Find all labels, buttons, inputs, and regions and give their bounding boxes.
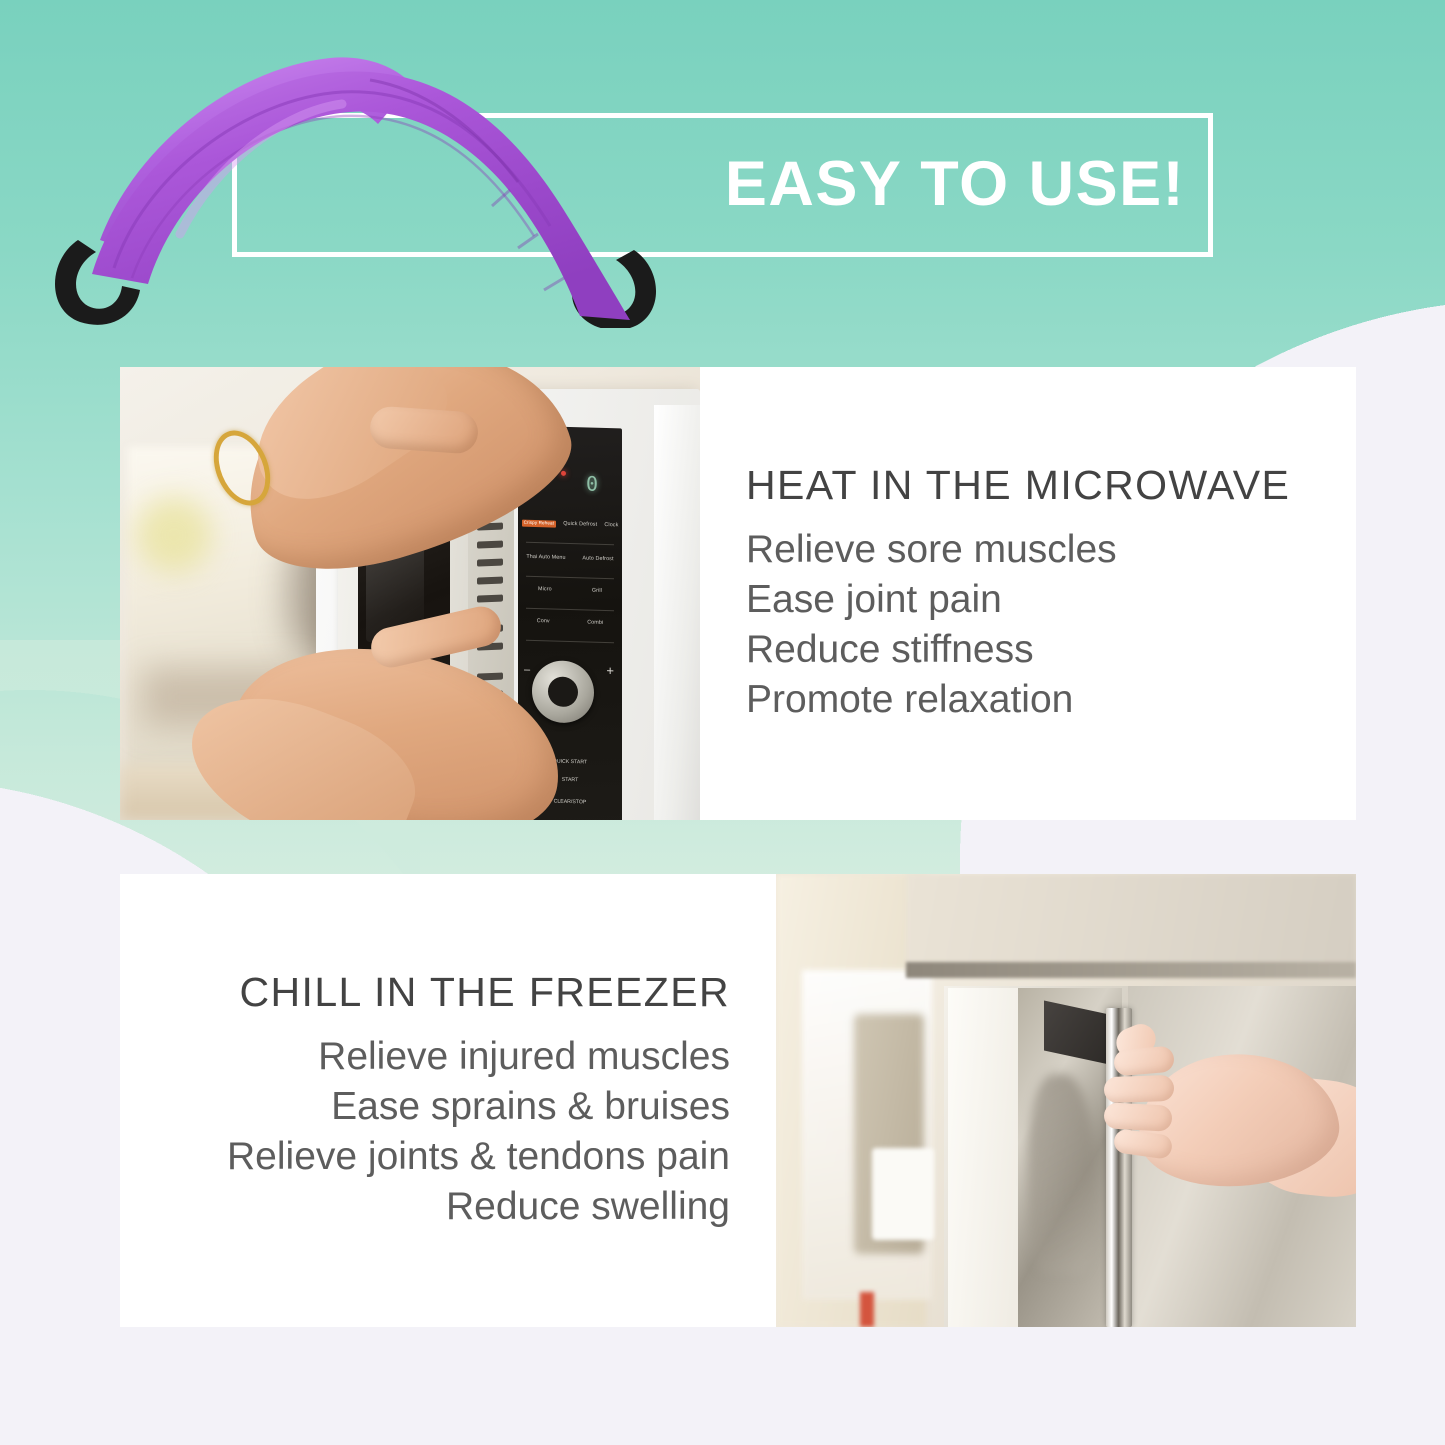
heat-text-panel: HEAT IN THE MICROWAVE Relieve sore muscl… — [700, 367, 1356, 820]
chill-benefit-list: Relieve injured muscles Ease sprains & b… — [166, 1032, 730, 1232]
button-combi[interactable]: Combi — [587, 619, 603, 625]
microwave-display: 0 — [578, 471, 606, 496]
hand-gripping-handle — [1120, 1028, 1356, 1228]
infographic-canvas: EASY TO USE! — [0, 0, 1445, 1445]
section-card-chill: CHILL IN THE FREEZER Relieve injured mus… — [120, 874, 1356, 1327]
section-card-heat: 0 Crispy Reheat Quick Defrost Clock Thai… — [120, 367, 1356, 820]
list-item: Reduce stiffness — [746, 625, 1310, 675]
button-thai-auto-menu[interactable]: Thai Auto Menu — [526, 554, 565, 561]
headline-easy-to-use: EASY TO USE! — [690, 128, 1220, 240]
decrease-icon[interactable]: – — [524, 664, 530, 676]
list-item: Ease sprains & bruises — [166, 1082, 730, 1132]
list-item: Relieve sore muscles — [746, 525, 1310, 575]
button-quick-defrost[interactable]: Quick Defrost — [563, 521, 597, 528]
list-item: Reduce swelling — [166, 1182, 730, 1232]
hand-opening-freezer-door-photo — [776, 874, 1356, 1327]
heat-section-title: HEAT IN THE MICROWAVE — [746, 462, 1310, 509]
hand-opening-microwave-photo: 0 Crispy Reheat Quick Defrost Clock Thai… — [120, 367, 700, 820]
upper-hand-fingers — [369, 405, 480, 454]
button-auto-defrost[interactable]: Auto Defrost — [582, 555, 613, 562]
upper-freezer-compartment — [906, 874, 1356, 974]
button-micro[interactable]: Micro — [538, 586, 552, 592]
list-item: Relieve injured muscles — [166, 1032, 730, 1082]
list-item: Promote relaxation — [746, 675, 1310, 725]
chill-section-title: CHILL IN THE FREEZER — [166, 969, 730, 1016]
product-image-neck-wrap — [40, 28, 670, 328]
microwave-rotary-dial[interactable] — [532, 660, 594, 724]
button-crispy-reheat[interactable]: Crispy Reheat — [522, 520, 556, 528]
increase-icon[interactable]: + — [606, 663, 614, 678]
list-item: Relieve joints & tendons pain — [166, 1132, 730, 1182]
power-led-icon — [561, 471, 566, 476]
button-conv[interactable]: Conv — [537, 618, 550, 624]
chill-text-panel: CHILL IN THE FREEZER Relieve injured mus… — [120, 874, 776, 1327]
button-clock[interactable]: Clock — [604, 522, 618, 528]
button-grill[interactable]: Grill — [592, 588, 602, 594]
list-item: Ease joint pain — [746, 575, 1310, 625]
heat-benefit-list: Relieve sore muscles Ease joint pain Red… — [746, 525, 1310, 725]
